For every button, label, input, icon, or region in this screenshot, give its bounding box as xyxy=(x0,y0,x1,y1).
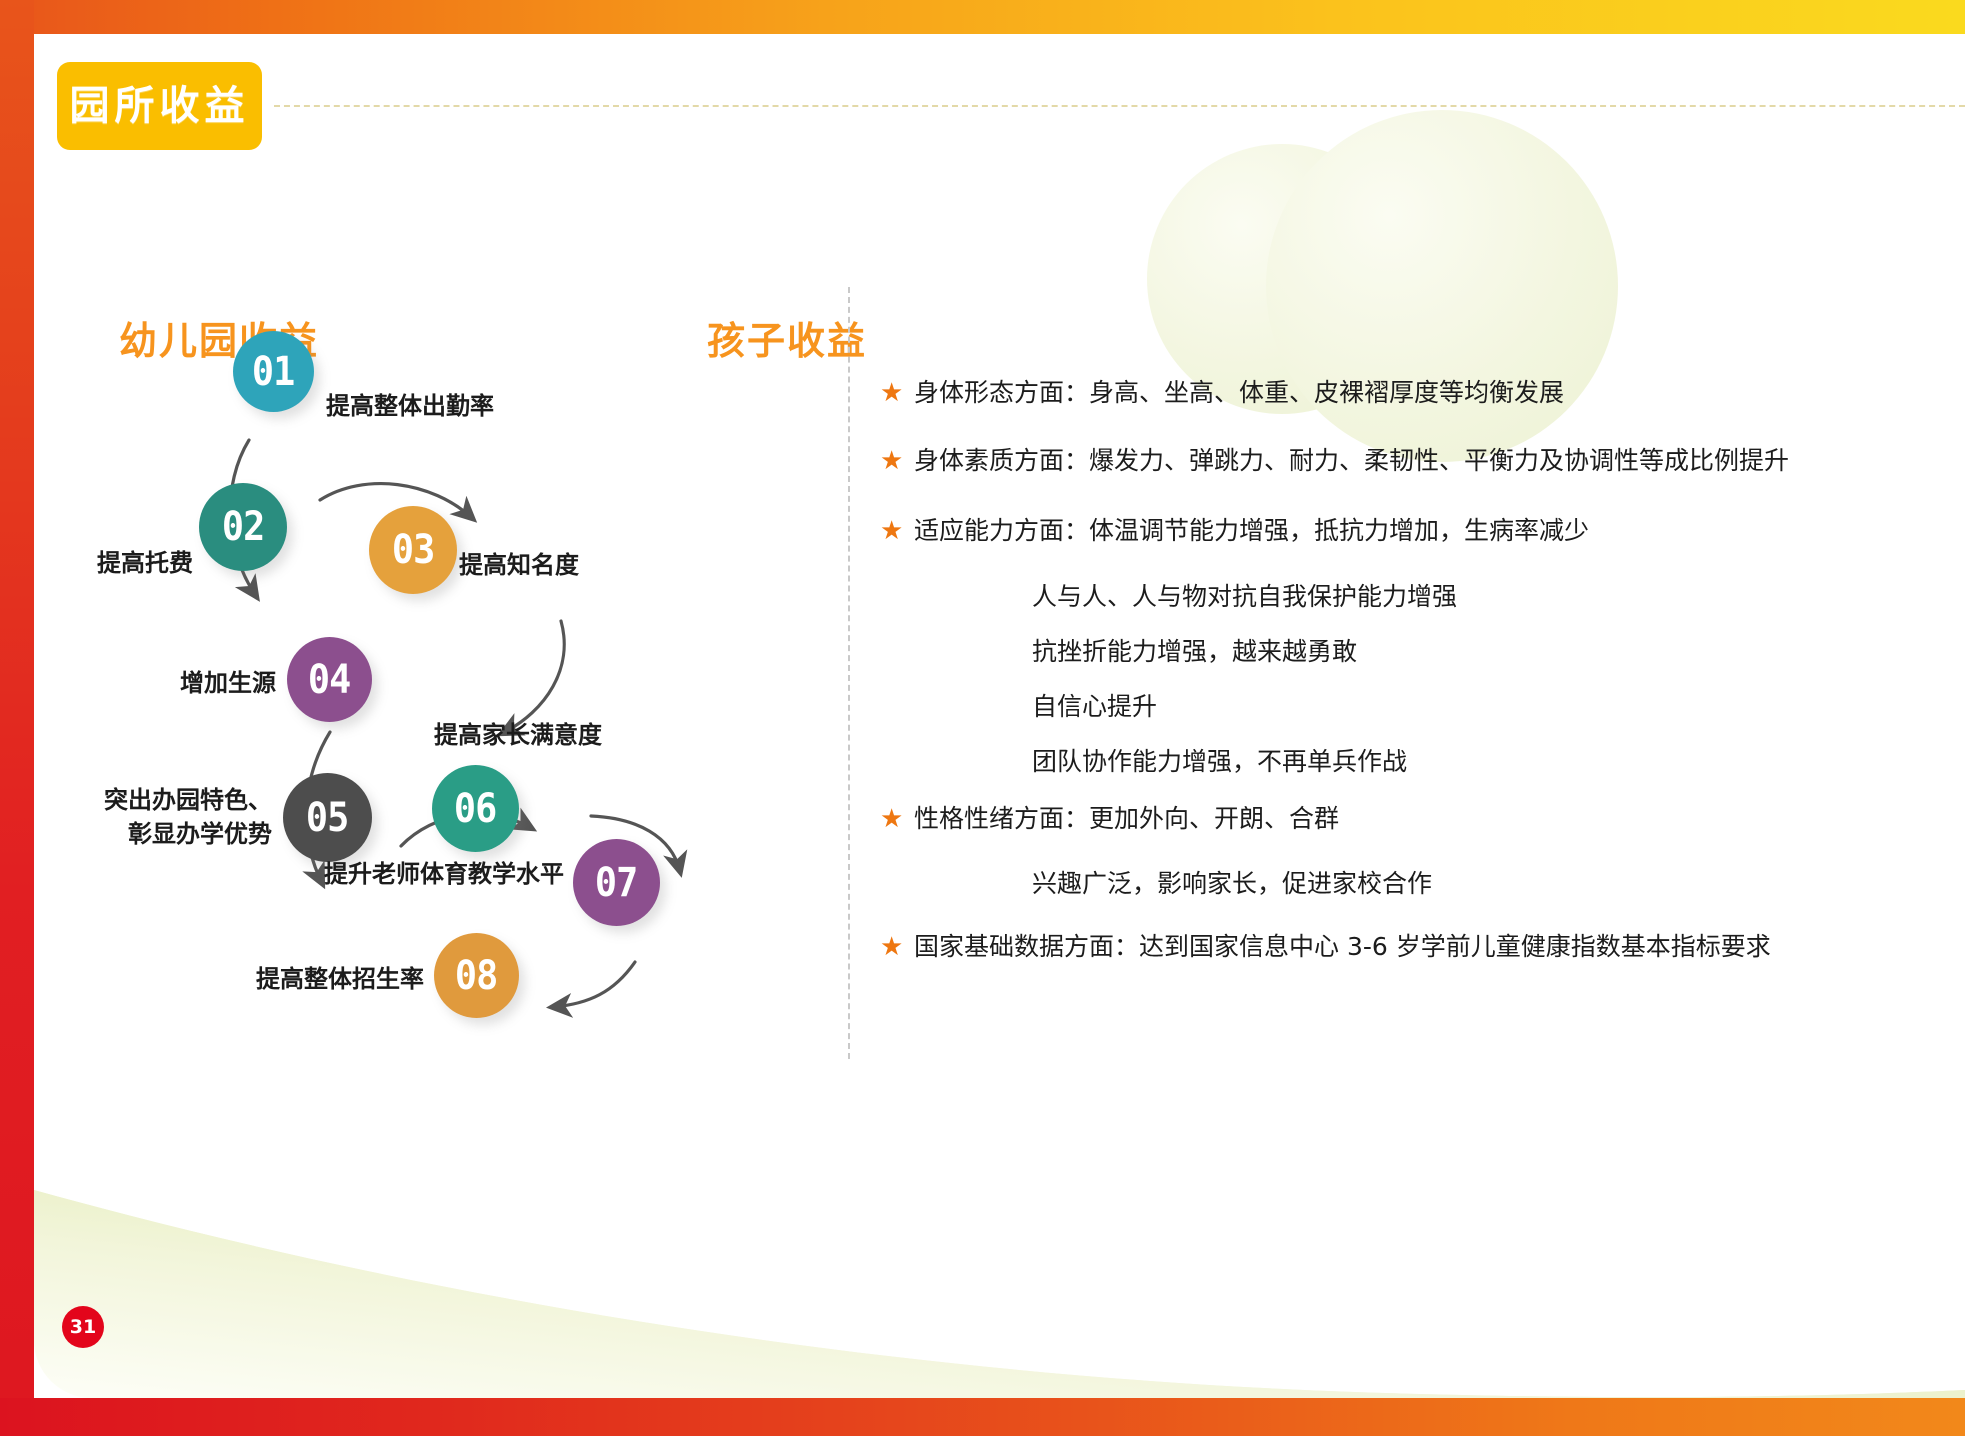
benefits-flow-diagram: 01 提高整体出勤率 02 提高托费 03 提高知名度 04 增加生源 05 突… xyxy=(34,34,894,1398)
flow-node-02-label: 提高托费 xyxy=(34,546,193,580)
flow-node-03[interactable]: 03 xyxy=(369,506,457,594)
benefit-item-1-text: 身体形态方面：身高、坐高、体重、皮裸褶厚度等均衡发展 xyxy=(914,376,1564,410)
flow-node-03-number: 03 xyxy=(392,530,434,570)
flow-node-03-label: 提高知名度 xyxy=(459,548,579,582)
flow-node-01-label: 提高整体出勤率 xyxy=(326,389,494,423)
star-icon: ★ xyxy=(880,518,914,544)
star-icon: ★ xyxy=(880,448,914,474)
benefit-item-3-sub-2-text: 抗挫折能力增强，越来越勇敢 xyxy=(1032,637,1357,666)
benefit-item-3-sub-1-text: 人与人、人与物对抗自我保护能力增强 xyxy=(1032,582,1457,611)
flow-node-01[interactable]: 01 xyxy=(233,331,314,412)
flow-node-02[interactable]: 02 xyxy=(199,483,287,571)
bottom-gradient-bar xyxy=(0,1398,1965,1436)
flow-node-07-number: 07 xyxy=(595,863,637,903)
page-number-badge: 31 xyxy=(62,1306,104,1348)
flow-node-07-label: 提升老师体育教学水平 xyxy=(246,857,564,891)
star-icon: ★ xyxy=(880,934,914,960)
flow-node-05-label: 突出办园特色、 彰显办学优势 xyxy=(34,783,272,851)
slide-page: 园所收益 幼儿园收益 孩子收益 xyxy=(0,0,1965,1436)
page-number-text: 31 xyxy=(70,1316,96,1338)
flow-node-04-number: 04 xyxy=(308,660,350,700)
star-icon: ★ xyxy=(880,806,914,832)
benefit-item-5-text: 国家基础数据方面：达到国家信息中心 3-6 岁学前儿童健康指数基本指标要求 xyxy=(914,930,1771,964)
benefit-item-3-sub-3-text: 自信心提升 xyxy=(1032,692,1157,721)
flow-node-06-label: 提高家长满意度 xyxy=(322,718,602,752)
flow-node-06[interactable]: 06 xyxy=(432,765,519,852)
flow-arrows xyxy=(34,34,894,1398)
flow-node-08-label: 提高整体招生率 xyxy=(200,962,424,996)
flow-node-04[interactable]: 04 xyxy=(287,637,372,722)
benefit-item-5: ★ 国家基础数据方面：达到国家信息中心 3-6 岁学前儿童健康指数基本指标要求 xyxy=(880,930,1771,964)
benefit-item-4-sub-1-text: 兴趣广泛，影响家长，促进家校合作 xyxy=(1032,869,1432,898)
flow-node-08-number: 08 xyxy=(455,956,497,996)
top-gradient-bar xyxy=(0,0,1965,34)
flow-node-07[interactable]: 07 xyxy=(573,839,660,926)
flow-node-05-number: 05 xyxy=(306,798,348,838)
benefit-item-3: ★ 适应能力方面：体温调节能力增强，抵抗力增加，生病率减少 xyxy=(880,514,1589,548)
flow-node-01-number: 01 xyxy=(252,352,294,392)
benefit-item-4-sub-1: 兴趣广泛，影响家长，促进家校合作 xyxy=(1032,867,1432,901)
benefit-item-2: ★ 身体素质方面：爆发力、弹跳力、耐力、柔韧性、平衡力及协调性等成比例提升 xyxy=(880,444,1789,478)
benefit-item-2-text: 身体素质方面：爆发力、弹跳力、耐力、柔韧性、平衡力及协调性等成比例提升 xyxy=(914,444,1789,478)
star-icon: ★ xyxy=(880,380,914,406)
flow-node-02-number: 02 xyxy=(222,507,264,547)
benefit-item-3-sub-1: 人与人、人与物对抗自我保护能力增强 xyxy=(1032,580,1457,614)
benefit-item-3-text: 适应能力方面：体温调节能力增强，抵抗力增加，生病率减少 xyxy=(914,514,1589,548)
benefit-item-4-text: 性格性绪方面：更加外向、开朗、合群 xyxy=(914,802,1339,836)
benefit-item-4: ★ 性格性绪方面：更加外向、开朗、合群 xyxy=(880,802,1339,836)
flow-node-08[interactable]: 08 xyxy=(434,933,519,1018)
benefit-item-3-sub-2: 抗挫折能力增强，越来越勇敢 xyxy=(1032,635,1357,669)
benefit-item-3-sub-4-text: 团队协作能力增强，不再单兵作战 xyxy=(1032,747,1407,776)
flow-node-04-label: 增加生源 xyxy=(79,666,276,700)
benefit-item-3-sub-3: 自信心提升 xyxy=(1032,690,1157,724)
benefit-item-1: ★ 身体形态方面：身高、坐高、体重、皮裸褶厚度等均衡发展 xyxy=(880,376,1564,410)
content-sheet: 园所收益 幼儿园收益 孩子收益 xyxy=(34,34,1965,1398)
left-gradient-bar xyxy=(0,0,34,1436)
flow-node-06-number: 06 xyxy=(454,789,496,829)
benefit-item-3-sub-4: 团队协作能力增强，不再单兵作战 xyxy=(1032,745,1407,779)
flow-node-05[interactable]: 05 xyxy=(283,773,372,862)
